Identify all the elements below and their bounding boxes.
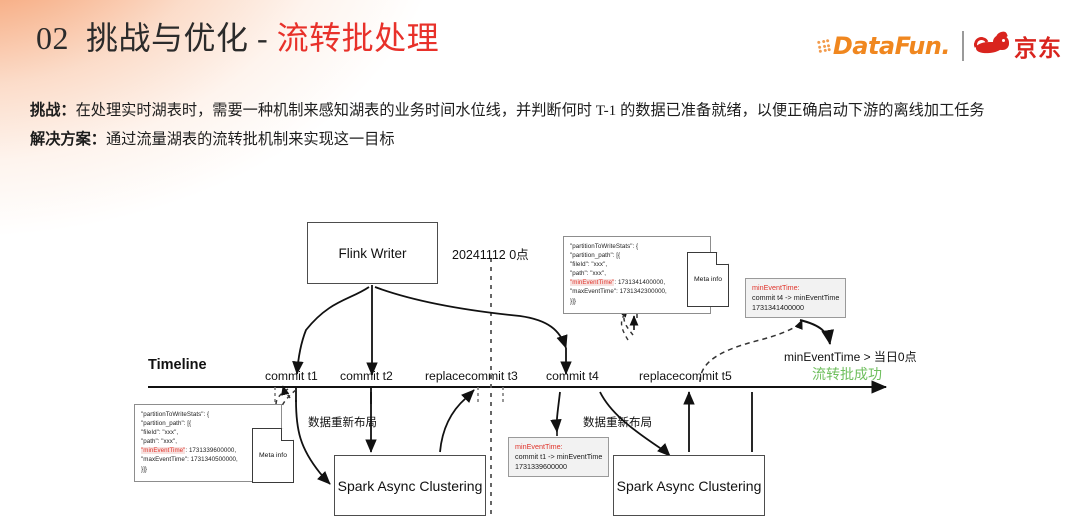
note-mid-line1: commit t1 -> minEventTime: [515, 452, 602, 461]
mineventtime-note-right: minEventTime: commit t4 -> minEventTime …: [745, 278, 846, 318]
page-title: 02 挑战与优化 - 流转批处理: [36, 16, 439, 60]
json-top-mineventtime-key: "minEventTime": [570, 279, 614, 286]
json-top-line7: }]}: [570, 298, 576, 305]
mineventtime-note-mid: minEventTime: commit t1 -> minEventTime …: [508, 437, 609, 477]
json-top-line1: "partitionToWriteStats": {: [570, 243, 638, 250]
solution-text: 通过流量湖表的流转批机制来实现这一目标: [106, 131, 395, 148]
jd-dog-icon: [976, 34, 1010, 58]
json-bottom-line7: }]}: [141, 466, 147, 473]
flink-writer-box: Flink Writer: [307, 222, 438, 284]
success-status-label: 流转批成功: [812, 364, 882, 384]
success-condition-label: minEventTime > 当日0点: [784, 348, 917, 365]
jd-logo: 京东: [976, 29, 1062, 63]
data-relayout-label-1: 数据重新布局: [308, 414, 377, 430]
challenge-text: 在处理实时湖表时，需要一种机制来感知湖表的业务时间水位线，并判断何时 T-1 的…: [76, 102, 985, 119]
page-title-number: 02: [36, 20, 69, 56]
json-bottom-mineventtime-value: : 1731339600000,: [185, 447, 236, 454]
meta-info-document-icon-top: Meta info: [687, 252, 729, 307]
note-right-title: minEventTime:: [752, 283, 800, 292]
json-bottom-line4: "path": "xxx",: [141, 438, 177, 445]
page-title-main: 挑战与优化 -: [86, 20, 268, 56]
data-relayout-label-2: 数据重新布局: [583, 414, 652, 430]
json-top-line4: "path": "xxx",: [570, 270, 606, 277]
note-right-line2: 1731341400000: [752, 303, 804, 312]
challenge-label: 挑战：: [30, 102, 76, 119]
json-bottom-maxeventtime: "maxEventTime": 1731340500000,: [141, 456, 238, 463]
solution-paragraph: 解决方案：通过流量湖表的流转批机制来实现这一目标: [30, 125, 1010, 154]
meta-info-label-bottom: Meta info: [259, 452, 287, 459]
timeline-tick-replacecommit-t3: replacecommit t3: [425, 369, 518, 383]
brand-bar: DataFun. 京东: [818, 26, 1062, 66]
json-bottom-mineventtime-key: "minEventTime": [141, 447, 185, 454]
json-top-mineventtime-value: : 1731341400000,: [614, 279, 665, 286]
datafun-wordmark: DataFun.: [833, 32, 950, 60]
json-bottom-line1: "partitionToWriteStats": {: [141, 411, 209, 418]
jd-wordmark: 京东: [1014, 29, 1062, 63]
document-fold-corner: [281, 428, 294, 441]
note-mid-line2: 1731339600000: [515, 462, 567, 471]
timeline-tick-commit-t2: commit t2: [340, 369, 393, 383]
spark-async-clustering-box-2: Spark Async Clustering: [613, 455, 765, 516]
timeline-tick-commit-t1: commit t1: [265, 369, 318, 383]
challenge-paragraph: 挑战：在处理实时湖表时，需要一种机制来感知湖表的业务时间水位线，并判断何时 T-…: [30, 96, 1010, 125]
json-top-maxeventtime: "maxEventTime": 1731342300000,: [570, 288, 667, 295]
timeline-axis-label: Timeline: [148, 357, 207, 373]
timeline-tick-commit-t4: commit t4: [546, 369, 599, 383]
datafun-logo: DataFun.: [818, 32, 950, 60]
page-title-highlight: 流转批处理: [277, 20, 440, 56]
brand-divider: [962, 31, 964, 61]
json-bottom-line2: "partition_path": [{: [141, 420, 191, 427]
json-bottom-line3: "fileId": "xxx",: [141, 429, 178, 436]
datafun-dots-icon: [817, 39, 831, 53]
document-fold-corner: [716, 252, 729, 265]
note-right-line1: commit t4 -> minEventTime: [752, 293, 839, 302]
note-mid-title: minEventTime:: [515, 442, 563, 451]
body-copy: 挑战：在处理实时湖表时，需要一种机制来感知湖表的业务时间水位线，并判断何时 T-…: [30, 96, 1010, 154]
meta-info-document-icon-bottom: Meta info: [252, 428, 294, 483]
slide-canvas: 02 挑战与优化 - 流转批处理 DataFun. 京东 挑战：在处理实时湖表时…: [0, 0, 1080, 516]
meta-info-label-top: Meta info: [694, 276, 722, 283]
json-top-line2: "partition_path": [{: [570, 252, 620, 259]
solution-label: 解决方案：: [30, 131, 106, 148]
spark-async-clustering-box-1: Spark Async Clustering: [334, 455, 486, 516]
json-top-line3: "fileId": "xxx",: [570, 261, 607, 268]
timeline-tick-replacecommit-t5: replacecommit t5: [639, 369, 732, 383]
date-marker-label: 20241112 0点: [452, 244, 529, 263]
